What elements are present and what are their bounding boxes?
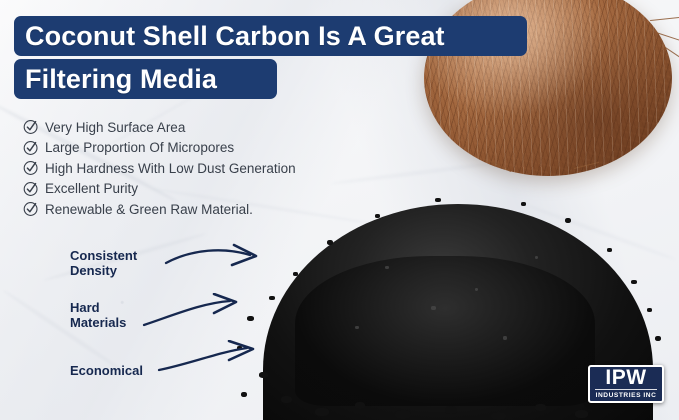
list-item-label: Renewable & Green Raw Material. (45, 202, 253, 217)
list-item-label: Excellent Purity (45, 181, 138, 196)
check-circle-icon (22, 140, 42, 156)
callout-consistent-density: Consistent Density (70, 248, 137, 278)
callout-economical: Economical (70, 363, 143, 378)
check-circle-icon (22, 119, 42, 135)
check-circle-icon (22, 201, 42, 217)
callout-line1: Hard (70, 300, 126, 315)
ipw-logo: IPW INDUSTRIES INC (588, 365, 664, 403)
list-item: Large Proportion Of Micropores (22, 138, 422, 159)
product-infographic-poster: Coconut Shell Carbon Is A Great Filterin… (0, 0, 679, 420)
check-circle-icon (22, 160, 42, 176)
title-banner-line2: Filtering Media (14, 59, 277, 99)
list-item-label: Very High Surface Area (45, 120, 185, 135)
arrow-to-carbon-2 (140, 293, 250, 333)
logo-tagline-text: INDUSTRIES INC (595, 389, 657, 400)
list-item-label: High Hardness With Low Dust Generation (45, 161, 296, 176)
list-item: High Hardness With Low Dust Generation (22, 158, 422, 179)
callout-line1: Consistent (70, 248, 137, 263)
title-banner-line1: Coconut Shell Carbon Is A Great (14, 16, 527, 56)
arrow-to-carbon-3 (155, 340, 267, 378)
title-line1-text: Coconut Shell Carbon Is A Great (25, 21, 445, 52)
callout-line2: Density (70, 263, 137, 278)
list-item-label: Large Proportion Of Micropores (45, 140, 234, 155)
logo-brand-text: IPW (605, 368, 646, 388)
title-line2-text: Filtering Media (25, 64, 217, 95)
callout-hard-materials: Hard Materials (70, 300, 126, 330)
arrow-to-carbon-1 (162, 243, 267, 279)
callout-line2: Materials (70, 315, 126, 330)
check-circle-icon (22, 181, 42, 197)
list-item: Very High Surface Area (22, 117, 422, 138)
callout-line1: Economical (70, 363, 143, 378)
